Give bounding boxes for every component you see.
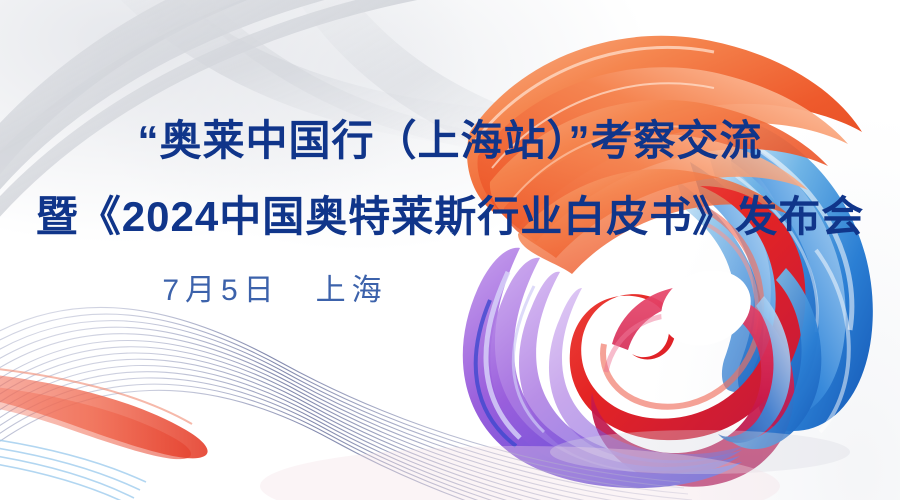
banner-title-line-1: “奥莱中国行（上海站）”考察交流 bbox=[0, 120, 900, 162]
banner-title-line-2: 暨《2024中国奥特莱斯行业白皮书》发布会 bbox=[0, 196, 900, 238]
event-banner: “奥莱中国行（上海站）”考察交流 暨《2024中国奥特莱斯行业白皮书》发布会 7… bbox=[0, 0, 900, 500]
banner-date-location: 7月5日 上海 bbox=[0, 265, 725, 309]
gray-swirl-wash bbox=[0, 0, 900, 500]
